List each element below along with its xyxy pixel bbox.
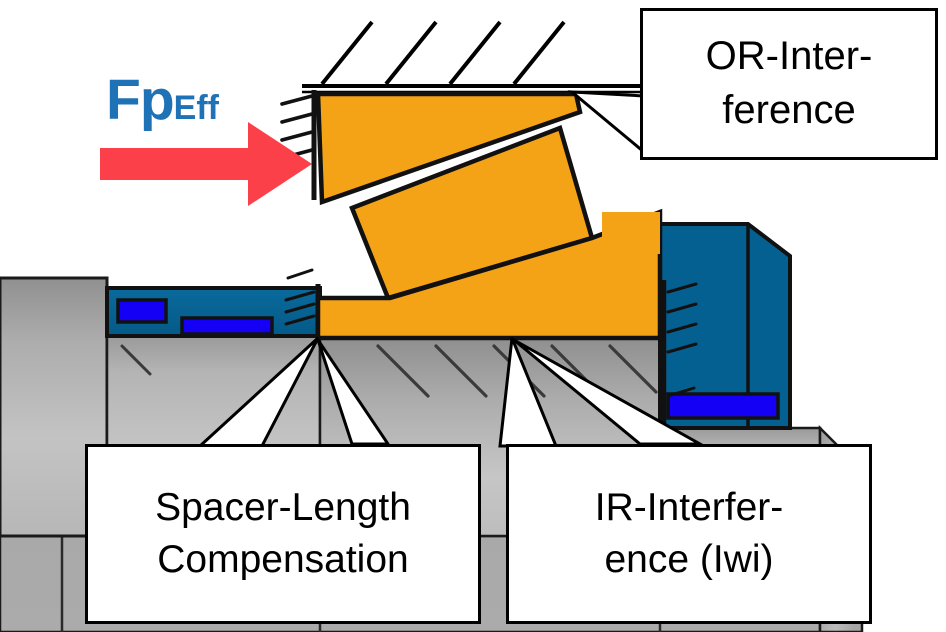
- left-teal-spacer: [107, 270, 320, 338]
- force-arrow-shape: [100, 122, 312, 206]
- callout-ir-interference: IR-Interfer- ence (Iwi): [506, 444, 872, 624]
- callout-spacer-line-1: Spacer-Length: [155, 482, 411, 534]
- callout-ir-line-1: IR-Interfer-: [595, 482, 784, 534]
- inner-ring-step-fill: [602, 212, 660, 254]
- left-spacer-insert-outer: [182, 318, 272, 334]
- force-label-subscript: Eff: [174, 89, 219, 127]
- preload-force-label: FpEff: [106, 72, 219, 129]
- diagram-canvas: FpEff OR-Inter- ference Spacer-Length Co…: [0, 0, 946, 632]
- right-teal-spacer: [660, 224, 790, 428]
- or-leader-triangle: [572, 92, 644, 152]
- callout-or-interference: OR-Inter- ference: [640, 8, 938, 160]
- left-spacer-insert-inner: [118, 300, 166, 322]
- or-interference-leader: [572, 92, 644, 152]
- outer-ring-contact-hatch: [282, 90, 314, 200]
- callout-spacer-line-2: Compensation: [157, 534, 408, 586]
- callout-or-line-2: ference: [722, 84, 855, 138]
- force-label-main: Fp: [106, 68, 174, 132]
- right-spacer-insert: [668, 394, 778, 418]
- ground-hatch-marks: [322, 22, 564, 84]
- callout-spacer-length-compensation: Spacer-Length Compensation: [85, 444, 481, 624]
- preload-force-arrow: [100, 122, 312, 206]
- spacer-top-contact-hatch: [288, 270, 312, 278]
- callout-ir-line-2: ence (Iwi): [604, 534, 773, 586]
- fixed-housing-ground-symbol: [302, 22, 660, 92]
- callout-or-line-1: OR-Inter-: [706, 30, 873, 84]
